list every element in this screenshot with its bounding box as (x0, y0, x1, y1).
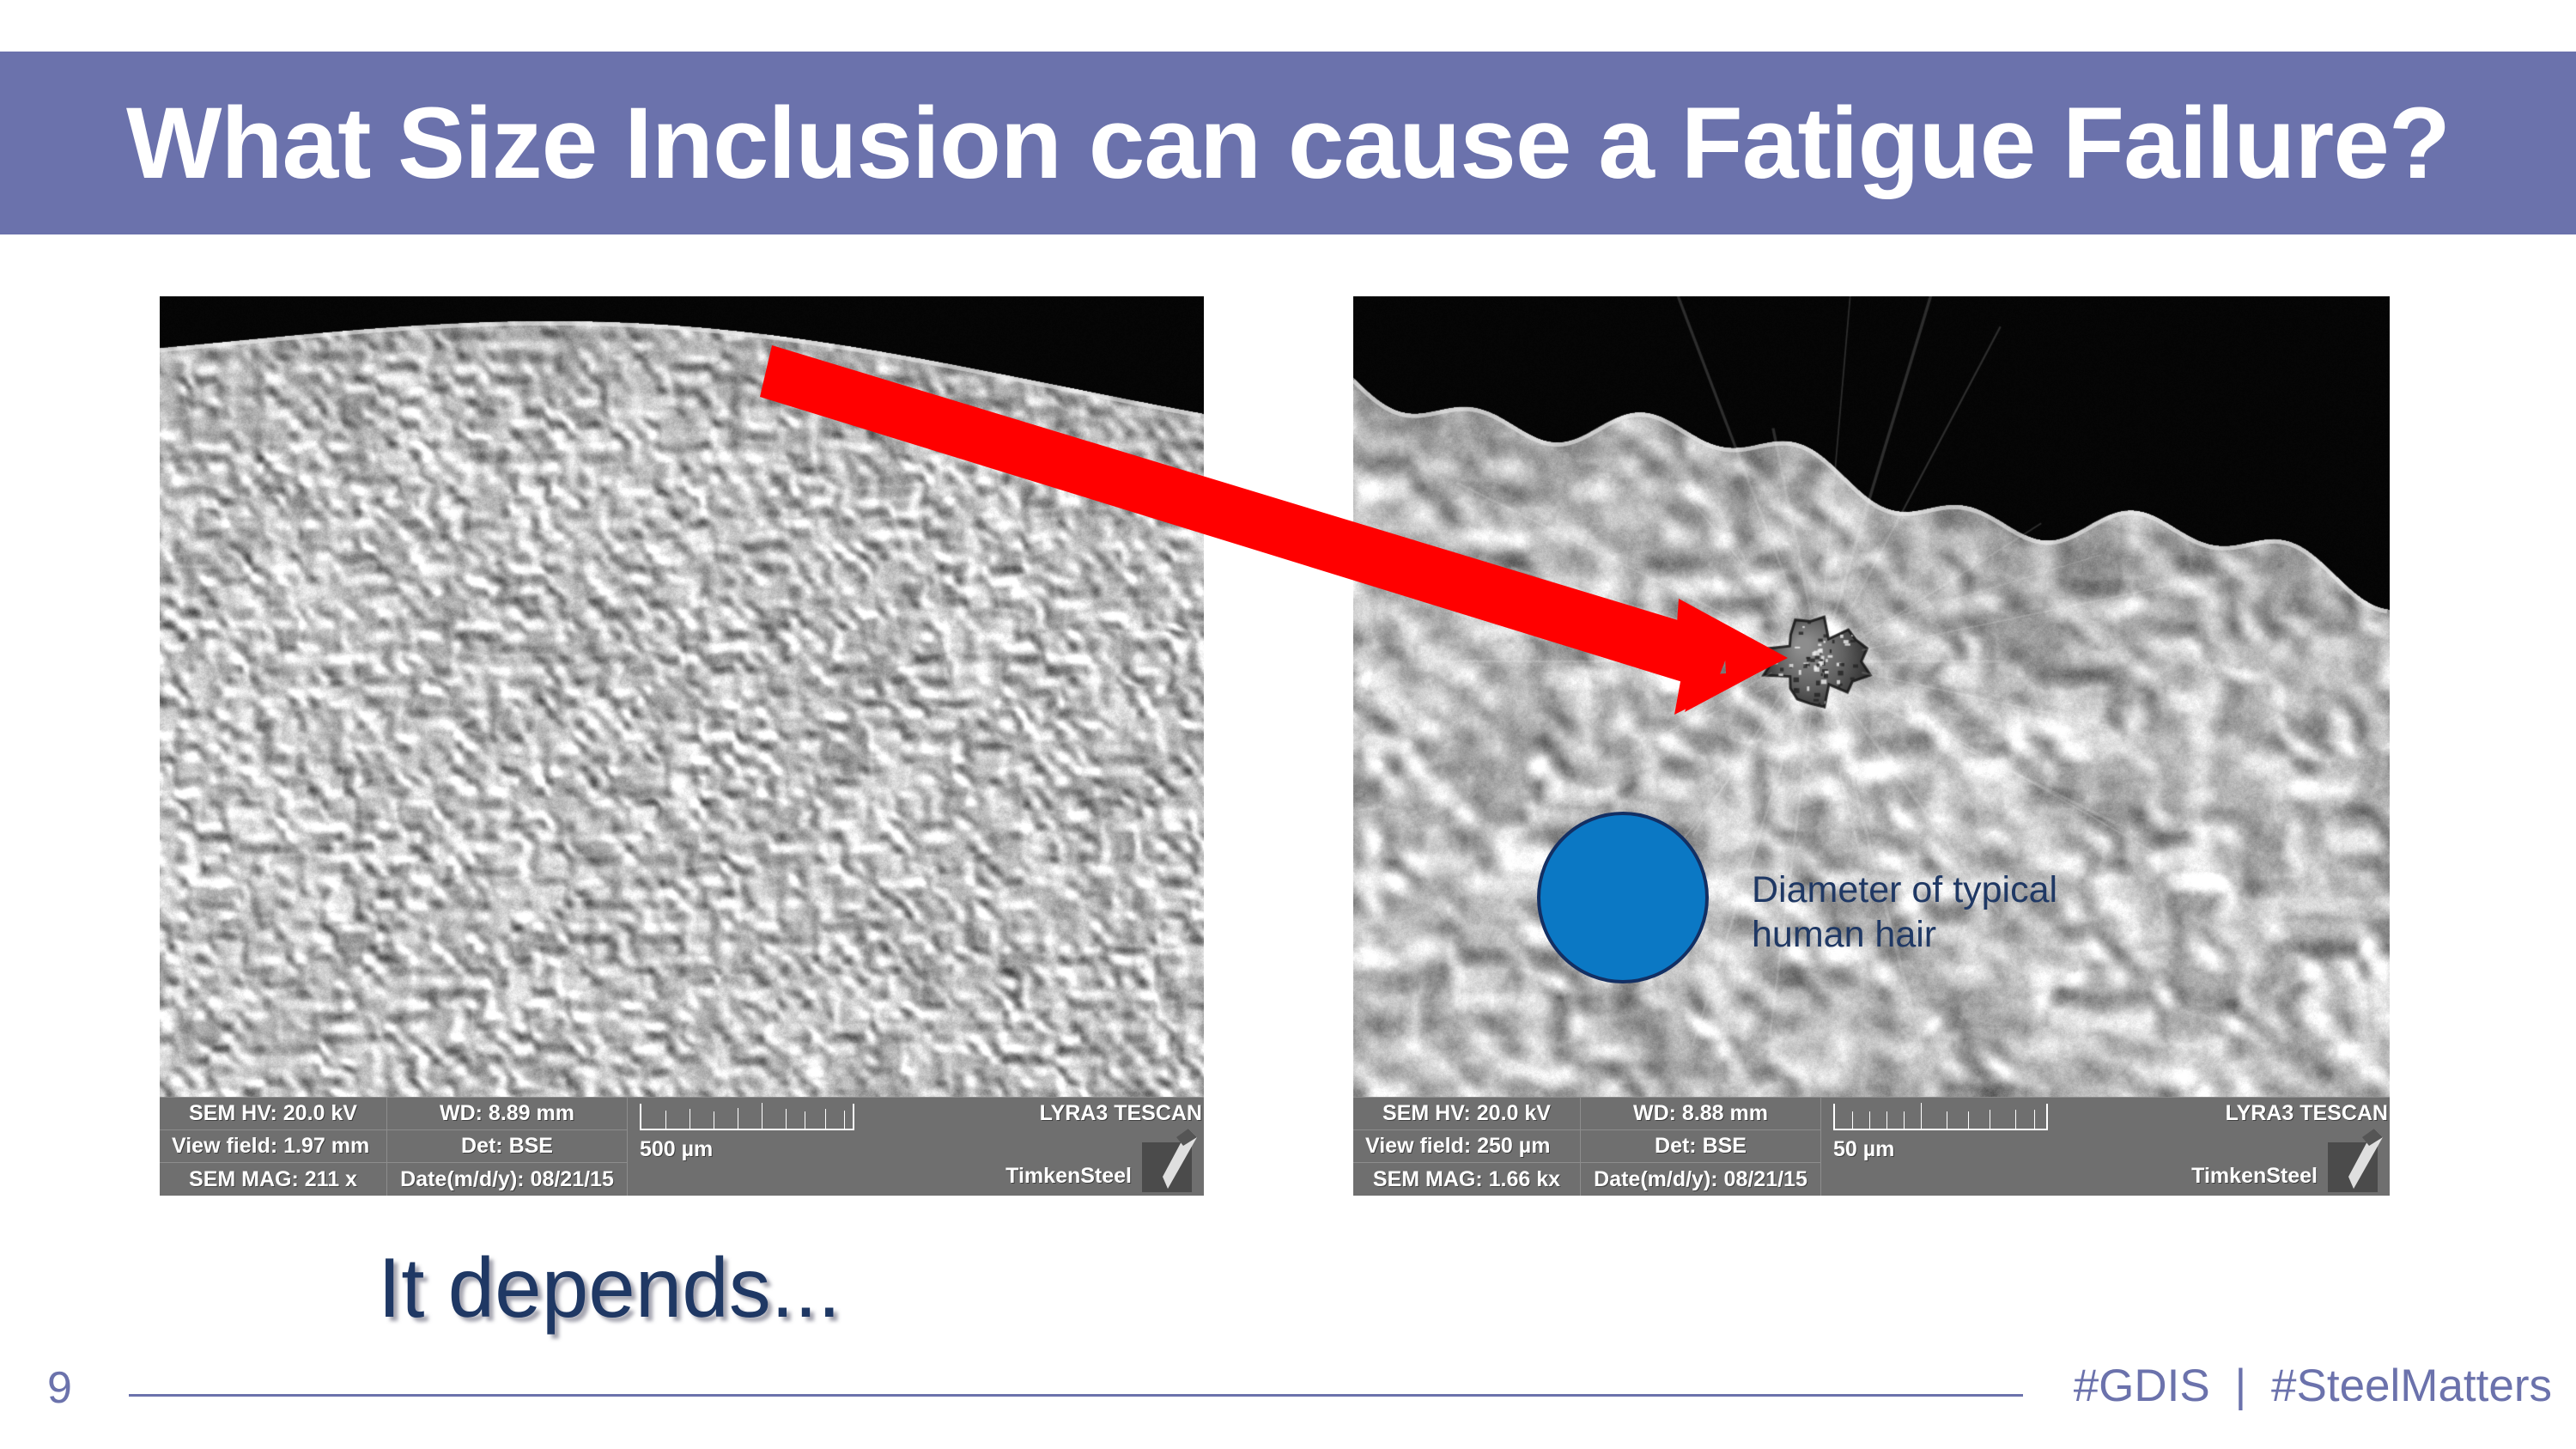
micrograph-left: SEM HV: 20.0 kV WD: 8.89 mm 500 µm LYRA3… (160, 296, 1204, 1196)
footer-hashtags: #GDIS | #SteelMatters (2074, 1363, 2552, 1409)
info-sem-mag: SEM MAG: 211 x (160, 1163, 387, 1196)
instrument-vendor-label: LYRA3 TESCAN (1040, 1101, 1202, 1126)
human-hair-caption-line2: human hair (1752, 912, 2121, 957)
info-date: Date(m/d/y): 08/21/15 (1581, 1163, 1821, 1196)
footer-tag-secondary: #SteelMatters (2271, 1361, 2552, 1411)
info-sem-hv: SEM HV: 20.0 kV (160, 1098, 387, 1130)
human-hair-diameter-circle (1537, 812, 1709, 983)
info-right-panel: 50 µm LYRA3 TESCAN TimkenSteel (1821, 1098, 2390, 1196)
human-hair-caption: Diameter of typical human hair (1752, 868, 2121, 958)
scale-bar (1833, 1104, 2048, 1130)
footer-divider (129, 1394, 2023, 1397)
scale-bar (640, 1104, 854, 1130)
info-detector: Det: BSE (1581, 1130, 1821, 1163)
micrograph-right-image (1353, 296, 2390, 1196)
brand-label: TimkenSteel (2191, 1164, 2318, 1189)
brand-label: TimkenSteel (1005, 1164, 1132, 1189)
page-title: What Size Inclusion can cause a Fatigue … (126, 93, 2450, 194)
scale-bar-label: 500 µm (640, 1137, 713, 1162)
micrograph-left-image (160, 296, 1204, 1196)
info-sem-hv: SEM HV: 20.0 kV (1353, 1098, 1581, 1130)
micrograph-right-infobar: SEM HV: 20.0 kV WD: 8.88 mm 50 µm LYRA3 … (1353, 1097, 2390, 1196)
info-wd: WD: 8.88 mm (1581, 1098, 1821, 1130)
info-view-field: View field: 1.97 mm (160, 1130, 387, 1163)
info-detector: Det: BSE (387, 1130, 628, 1163)
human-hair-caption-line1: Diameter of typical (1752, 868, 2121, 912)
timkensteel-logo-icon (2324, 1127, 2385, 1194)
info-sem-mag: SEM MAG: 1.66 kx (1353, 1163, 1581, 1196)
answer-text: It depends... (378, 1245, 841, 1330)
scale-bar-label: 50 µm (1833, 1137, 1894, 1162)
info-view-field: View field: 250 µm (1353, 1130, 1581, 1163)
micrograph-left-infobar: SEM HV: 20.0 kV WD: 8.89 mm 500 µm LYRA3… (160, 1097, 1204, 1196)
info-wd: WD: 8.89 mm (387, 1098, 628, 1130)
info-right-panel: 500 µm LYRA3 TESCAN TimkenSteel (628, 1098, 1204, 1196)
footer-tag-separator: | (2223, 1361, 2259, 1411)
instrument-vendor-label: LYRA3 TESCAN (2226, 1101, 2388, 1126)
footer-tag-primary: #GDIS (2074, 1361, 2210, 1411)
info-date: Date(m/d/y): 08/21/15 (387, 1163, 628, 1196)
timkensteel-logo-icon (1139, 1127, 1199, 1194)
micrograph-right: SEM HV: 20.0 kV WD: 8.88 mm 50 µm LYRA3 … (1353, 296, 2390, 1196)
slide-title-bar: What Size Inclusion can cause a Fatigue … (0, 52, 2576, 234)
page-number: 9 (47, 1366, 72, 1410)
